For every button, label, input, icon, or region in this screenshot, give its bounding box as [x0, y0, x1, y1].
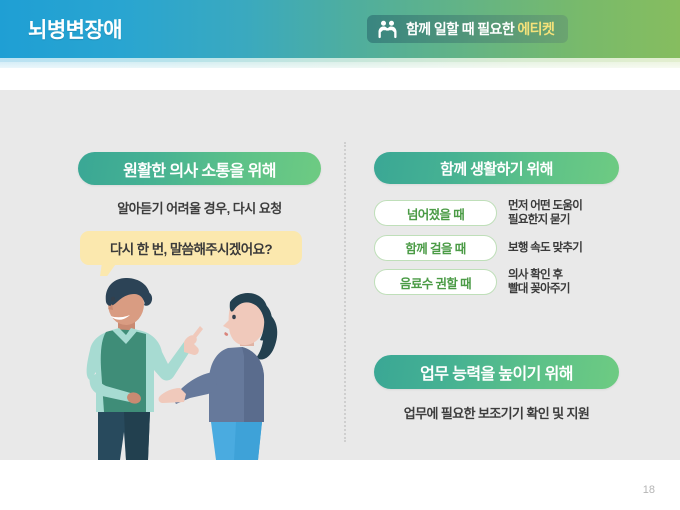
list-item-description: 의사 확인 후 빨대 꽂아주기 [508, 268, 570, 297]
desc-line-1: 의사 확인 후 [508, 268, 570, 282]
header-fade-to-white [0, 62, 680, 74]
two-people-conversation-illustration [68, 272, 308, 460]
list-item-label: 함께 걸을 때 [374, 235, 497, 261]
desc-line-1: 보행 속도 맞추기 [508, 241, 582, 255]
list-item: 함께 걸을 때 보행 속도 맞추기 [374, 235, 624, 261]
speech-bubble: 다시 한 번, 말씀해주시겠어요? [80, 231, 302, 265]
list-item-description: 먼저 어떤 도움이 필요한지 묻기 [508, 199, 582, 228]
right-section-heading-2: 업무 능력을 높이기 위해 [374, 355, 619, 389]
page-title: 뇌병변장애 [28, 14, 122, 44]
etiquette-rows-list: 넘어졌을 때 먼저 어떤 도움이 필요한지 묻기 함께 걸을 때 보행 속도 맞… [374, 199, 624, 304]
desc-line-2: 필요한지 묻기 [508, 213, 582, 227]
badge-text-highlight: 에티켓 [517, 21, 554, 37]
two-people-cooperation-icon [377, 20, 398, 39]
right-section-heading-1: 함께 생활하기 위해 [374, 152, 619, 184]
list-item: 넘어졌을 때 먼저 어떤 도움이 필요한지 묻기 [374, 199, 624, 228]
list-item-label: 음료수 권할 때 [374, 269, 497, 295]
page-number: 18 [643, 484, 655, 496]
column-divider [344, 142, 346, 442]
left-section-heading: 원활한 의사 소통을 위해 [78, 152, 321, 185]
left-section-subtitle: 알아듣기 어려울 경우, 다시 요청 [78, 198, 321, 217]
right-section-subtitle-2: 업무에 필요한 보조기기 확인 및 지원 [374, 403, 619, 422]
list-item-label: 넘어졌을 때 [374, 200, 497, 226]
section-badge-label: 함께 일할 때 필요한 에티켓 [406, 19, 554, 39]
section-badge: 함께 일할 때 필요한 에티켓 [367, 15, 568, 43]
badge-text-plain: 함께 일할 때 필요한 [406, 21, 517, 37]
desc-line-1: 먼저 어떤 도움이 [508, 199, 582, 213]
desc-line-2: 빨대 꽂아주기 [508, 282, 570, 296]
list-item: 음료수 권할 때 의사 확인 후 빨대 꽂아주기 [374, 268, 624, 297]
list-item-description: 보행 속도 맞추기 [508, 241, 582, 255]
